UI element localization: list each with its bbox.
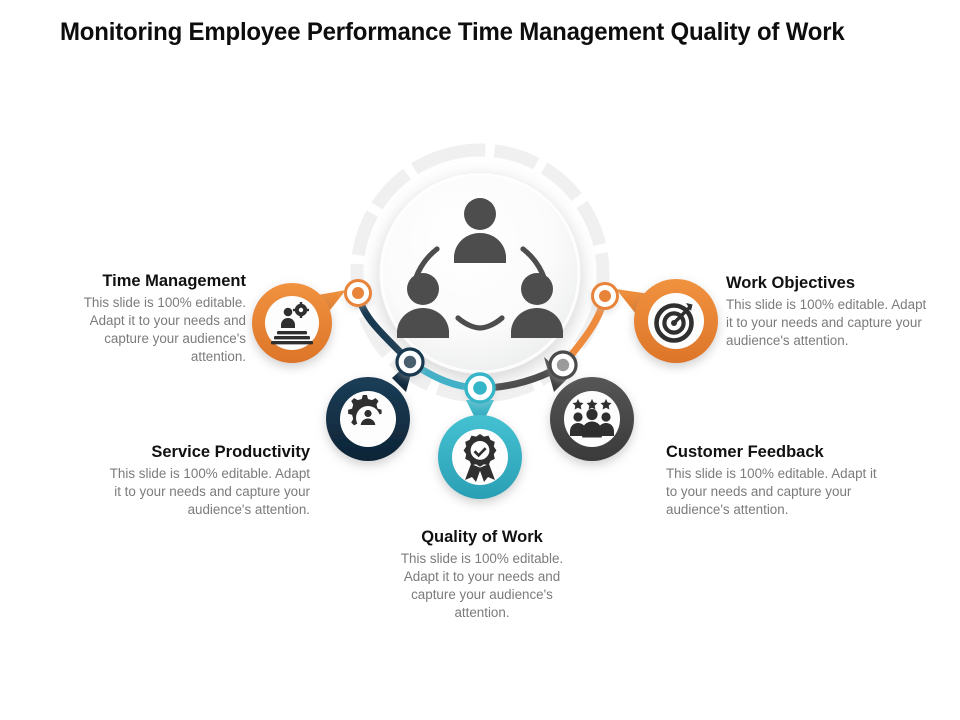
heading-service-productivity: Service Productivity (100, 443, 310, 462)
heading-customer-feedback: Customer Feedback (666, 443, 881, 462)
label-customer-feedback: Customer Feedback This slide is 100% edi… (666, 443, 881, 519)
marker-work-objectives (593, 284, 618, 309)
label-service-productivity: Service Productivity This slide is 100% … (100, 443, 310, 519)
marker-quality-of-work (466, 374, 494, 402)
marker-customer-feedback (550, 352, 576, 378)
body-customer-feedback: This slide is 100% editable. Adapt it to… (666, 465, 881, 519)
marker-service-productivity (397, 349, 423, 375)
body-work-objectives: This slide is 100% editable. Adapt it to… (726, 296, 936, 350)
label-quality-of-work: Quality of Work This slide is 100% edita… (392, 528, 572, 622)
body-service-productivity: This slide is 100% editable. Adapt it to… (100, 465, 310, 519)
infographic-diagram: Time Management This slide is 100% edita… (0, 0, 960, 720)
slide-canvas: Monitoring Employee Performance Time Man… (0, 0, 960, 720)
label-work-objectives: Work Objectives This slide is 100% edita… (726, 274, 936, 350)
body-quality-of-work: This slide is 100% editable. Adapt it to… (392, 550, 572, 622)
node-time-management[interactable] (252, 283, 346, 363)
node-work-objectives[interactable] (616, 279, 718, 363)
body-time-management: This slide is 100% editable. Adapt it to… (58, 294, 246, 366)
heading-quality-of-work: Quality of Work (392, 528, 572, 547)
label-time-management: Time Management This slide is 100% edita… (58, 272, 246, 366)
heading-time-management: Time Management (58, 272, 246, 291)
heading-work-objectives: Work Objectives (726, 274, 936, 293)
marker-time-management (346, 281, 371, 306)
three-stars-people-icon (570, 399, 614, 438)
